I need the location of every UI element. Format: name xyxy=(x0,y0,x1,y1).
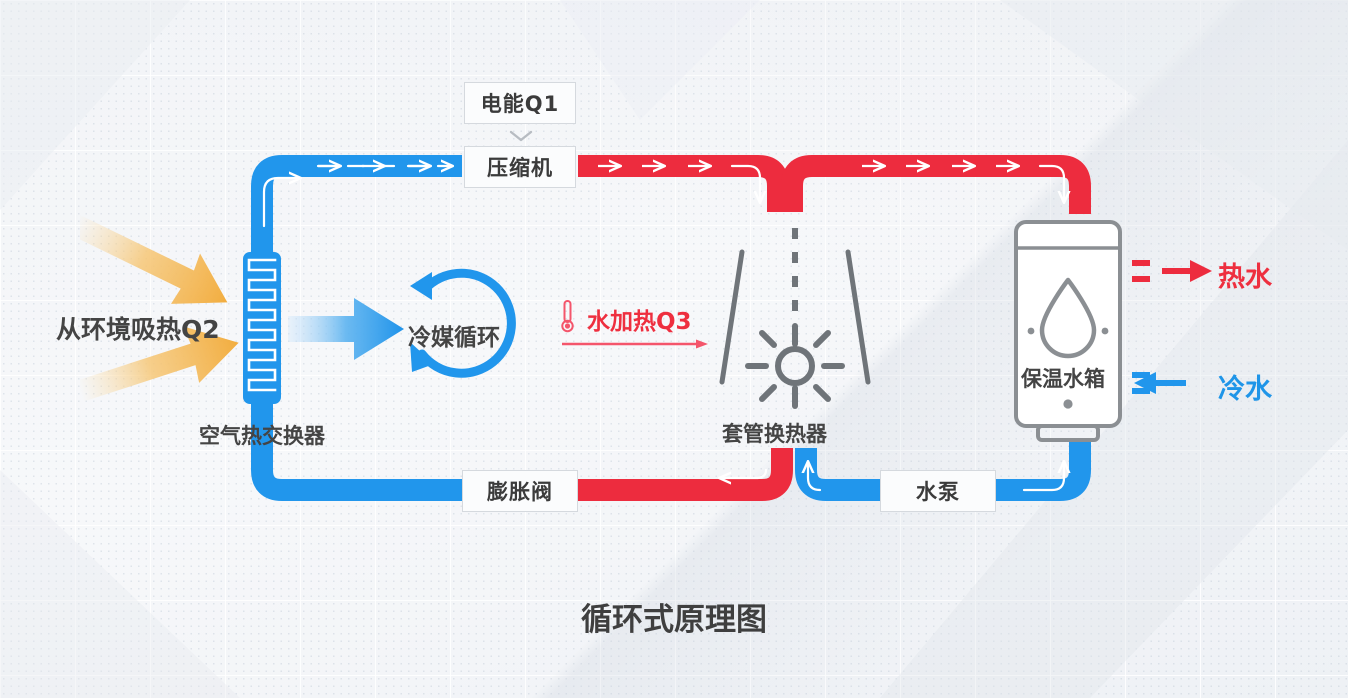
refrigerant-cycle-label: 冷媒循环 xyxy=(408,318,500,352)
expansion-valve-label: 膨胀阀 xyxy=(487,476,553,506)
ambient-heat-label: 从环境吸热Q2 xyxy=(56,310,220,346)
cold-water-label: 冷水 xyxy=(1218,367,1272,406)
hot-water-arrow-icon xyxy=(1130,252,1216,292)
electric-energy-label: 电能Q1 xyxy=(481,88,559,118)
coil-icon xyxy=(243,252,281,404)
water-pump-label: 水泵 xyxy=(916,476,960,506)
coaxial-heat-exchanger-label: 套管换热器 xyxy=(722,418,827,448)
cold-water-arrow-icon xyxy=(1130,364,1216,404)
diagram-canvas: 电能Q1 压缩机 膨胀阀 水泵 从环境吸热Q2 空气热交换器 冷媒循环 水加热Q… xyxy=(0,0,1348,698)
air-heat-exchanger-label: 空气热交换器 xyxy=(199,420,325,450)
water-heating-label: 水加热Q3 xyxy=(587,302,692,336)
water-tank-label: 保温水箱 xyxy=(1021,363,1105,393)
compressor-label: 压缩机 xyxy=(487,152,553,182)
electric-energy-box[interactable]: 电能Q1 xyxy=(464,82,576,124)
refrigerant-flow-arrow-icon xyxy=(288,296,406,362)
hot-water-label: 热水 xyxy=(1218,255,1272,294)
water-tank-icon xyxy=(1008,218,1136,448)
page-title: 循环式原理图 xyxy=(0,594,1348,639)
coaxial-heat-exchanger-icon xyxy=(700,222,890,412)
chevron-down-icon xyxy=(508,128,534,144)
expansion-valve-box[interactable]: 膨胀阀 xyxy=(462,470,578,512)
compressor-box[interactable]: 压缩机 xyxy=(464,146,576,188)
water-pump-box[interactable]: 水泵 xyxy=(880,470,996,512)
